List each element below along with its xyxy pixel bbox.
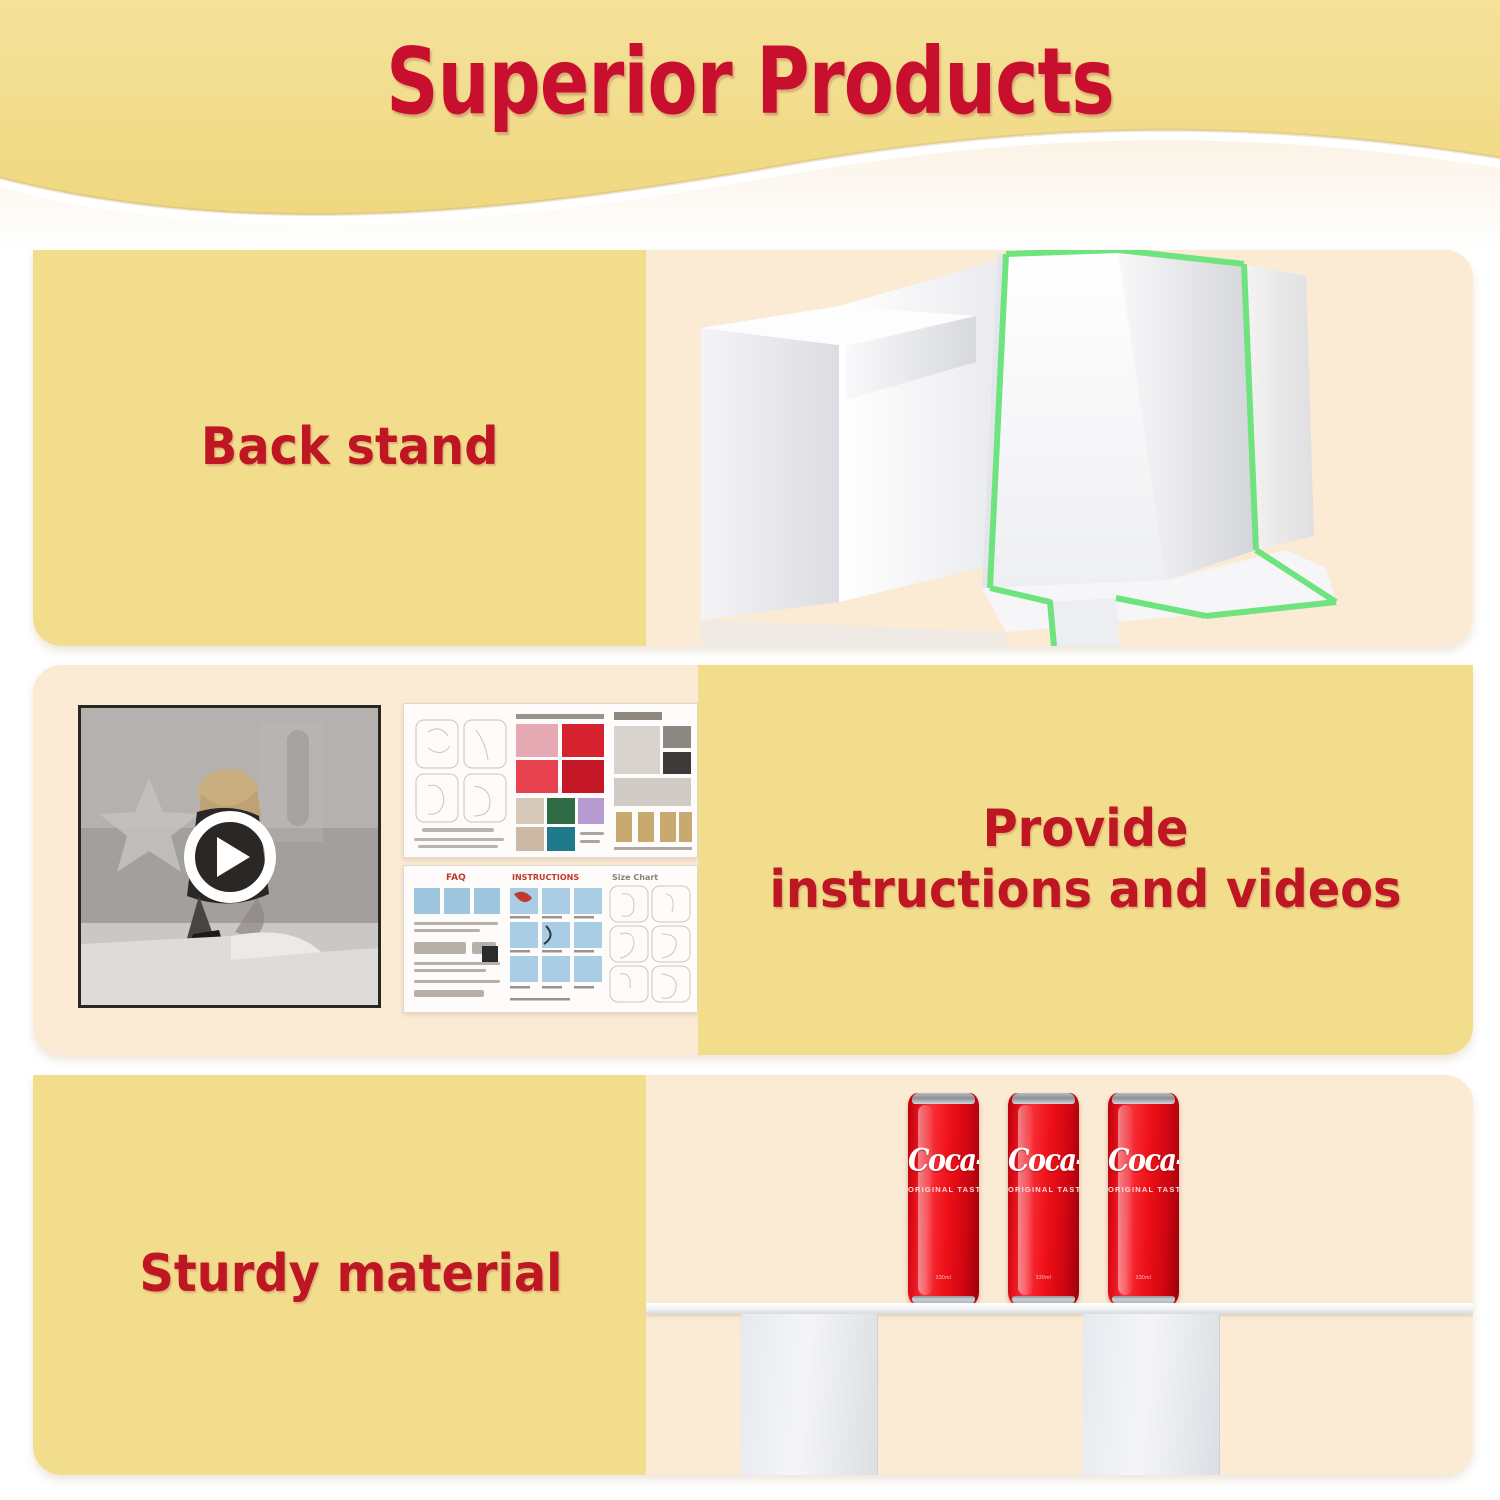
- feature-label-panel: Back stand: [33, 250, 646, 646]
- instruction-sheet-back: FAQ INSTRUCTIONS Size Chart: [403, 865, 698, 1013]
- feature-label-panel: Provide instructions and videos: [698, 665, 1473, 1055]
- feature-media-panel: FAQ INSTRUCTIONS Size Chart: [33, 665, 698, 1055]
- shelf-plank: [646, 1303, 1473, 1314]
- instruction-sheet-front: [403, 703, 698, 858]
- feature-card-sturdy-material: Sturdy material Coca-Cola ORIGINAL TASTE…: [33, 1075, 1473, 1475]
- instruction-sheet-back-art: FAQ INSTRUCTIONS Size Chart: [404, 866, 697, 1012]
- can-brand-script: Coca-Cola: [908, 1143, 979, 1179]
- can-tagline: ORIGINAL TASTE: [1008, 1185, 1079, 1194]
- page-title: Superior Products: [90, 28, 1410, 135]
- can-top-lid: [1112, 1093, 1175, 1104]
- can-footnote: 330ml: [1008, 1275, 1079, 1281]
- can-top-lid: [1012, 1093, 1075, 1104]
- feature-label-line2: instructions and videos: [769, 860, 1401, 920]
- shelf-leg-left: [741, 1314, 878, 1475]
- can-top-lid: [912, 1093, 975, 1104]
- display-stand-photo: [646, 250, 1473, 646]
- svg-text:FAQ: FAQ: [446, 873, 466, 883]
- svg-text:INSTRUCTIONS: INSTRUCTIONS: [512, 873, 579, 882]
- feature-label-line1: Provide: [983, 799, 1189, 859]
- feature-label-text: Provide instructions and videos: [729, 799, 1442, 922]
- cola-can: Coca-Cola ORIGINAL TASTE 330ml: [908, 1093, 979, 1305]
- feature-card-back-stand: Back stand: [33, 250, 1473, 646]
- play-triangle: [217, 837, 250, 877]
- feature-media-panel: Coca-Cola ORIGINAL TASTE 330ml Coca-Cola…: [646, 1075, 1473, 1475]
- can-footnote: 330ml: [908, 1275, 979, 1281]
- feature-label-text: Sturdy material: [139, 1244, 562, 1305]
- cola-can: Coca-Cola ORIGINAL TASTE 330ml: [1008, 1093, 1079, 1305]
- play-icon[interactable]: [184, 811, 276, 903]
- can-brand-script: Coca-Cola: [1008, 1143, 1079, 1179]
- can-tagline: ORIGINAL TASTE: [908, 1185, 979, 1194]
- can-highlight: [1018, 1105, 1033, 1295]
- instruction-sheet-front-art: [404, 704, 697, 857]
- feature-card-instructions-videos: FAQ INSTRUCTIONS Size Chart: [33, 665, 1473, 1055]
- video-thumbnail[interactable]: [78, 705, 381, 1008]
- can-highlight: [1118, 1105, 1133, 1295]
- cola-cans-on-shelf-photo: Coca-Cola ORIGINAL TASTE 330ml Coca-Cola…: [646, 1075, 1473, 1475]
- svg-text:Size Chart: Size Chart: [612, 873, 658, 882]
- can-highlight: [918, 1105, 933, 1295]
- cola-can: Coca-Cola ORIGINAL TASTE 330ml: [1108, 1093, 1179, 1305]
- page-header: Superior Products: [0, 0, 1500, 250]
- can-footnote: 330ml: [1108, 1275, 1179, 1281]
- shelf-leg-right: [1083, 1314, 1220, 1475]
- feature-label-text: Back stand: [201, 417, 499, 478]
- can-brand-script: Coca-Cola: [1108, 1143, 1179, 1179]
- display-stand-illustration: [646, 250, 1473, 646]
- feature-label-panel: Sturdy material: [33, 1075, 646, 1475]
- feature-media-panel: [646, 250, 1473, 646]
- can-tagline: ORIGINAL TASTE: [1108, 1185, 1179, 1194]
